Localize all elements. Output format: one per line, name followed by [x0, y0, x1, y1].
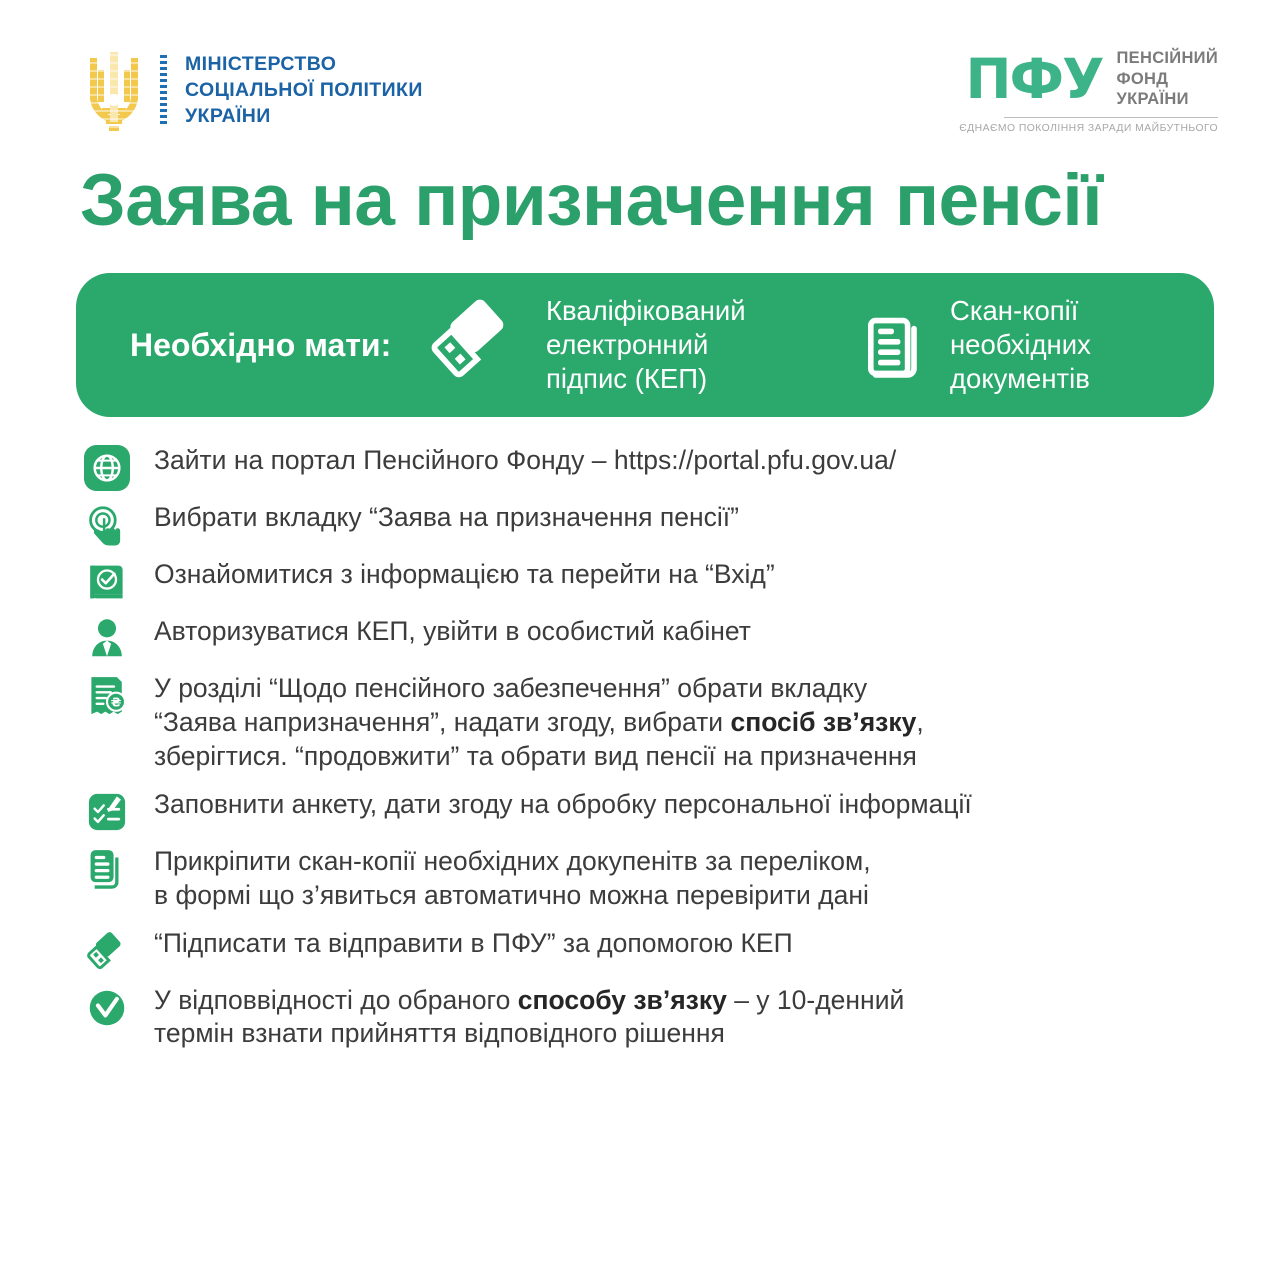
pfu-divider — [1004, 117, 1218, 118]
pfu-logo: ПФУ ПЕНСІЙНИЙ ФОНД УКРАЇНИ ЄДНАЄМО ПОКОЛ… — [959, 48, 1218, 134]
step-text: “Підписати та відправити в ПФУ” за допом… — [136, 926, 1240, 961]
step-text: Ознайомитися з інформацією та перейти на… — [136, 557, 1240, 592]
line-part-bold: способу зв’язку — [518, 985, 727, 1015]
svg-text:₴: ₴ — [111, 696, 122, 710]
step-line: Ознайомитися з інформацією та перейти на… — [154, 558, 1240, 592]
infographic-page: МІНІСТЕРСТВО СОЦІАЛЬНОЇ ПОЛІТИКИ УКРАЇНИ… — [0, 0, 1280, 1280]
step-item: “Підписати та відправити в ПФУ” за допом… — [0, 926, 1280, 974]
check-circle-icon — [78, 983, 136, 1031]
pfu-line-1: ПЕНСІЙНИЙ — [1117, 48, 1218, 69]
step-item: Заповнити анкету, дати згоду на обробку … — [0, 787, 1280, 835]
pfu-name: ПЕНСІЙНИЙ ФОНД УКРАЇНИ — [1117, 48, 1218, 110]
step-line: “Заява напризначення”, надати згоду, виб… — [154, 706, 1240, 740]
step-line: Зайти на портал Пенсійного Фонду – https… — [154, 444, 1240, 478]
documents-stack-icon — [78, 844, 136, 892]
step-line: Вибрати вкладку “Заява на призначення пе… — [154, 501, 1240, 535]
pfu-tagline: ЄДНАЄМО ПОКОЛІННЯ ЗАРАДИ МАЙБУТНЬОГО — [959, 123, 1218, 134]
page-header: МІНІСТЕРСТВО СОЦІАЛЬНОЇ ПОЛІТИКИ УКРАЇНИ… — [0, 0, 1280, 150]
kep-line-3: підпис (КЕП) — [546, 362, 746, 396]
page-title: Заява на призначення пенсії — [0, 150, 1280, 237]
banner-scan-text: Скан-копії необхідних документів — [950, 294, 1091, 396]
line-part: , — [916, 707, 923, 737]
banner-item-kep: Кваліфікований електронний підпис (КЕП) — [430, 294, 850, 396]
step-text: Вибрати вкладку “Заява на призначення пе… — [136, 500, 1240, 535]
scan-line-2: необхідних — [950, 328, 1091, 362]
step-item: Авторизуватися КЕП, увійти в особистий к… — [0, 614, 1280, 662]
step-line: У розділі “Щодо пенсійного забезпечення”… — [154, 672, 1240, 706]
pfu-mark: ПФУ — [966, 54, 1103, 105]
step-item: Прикріпити скан-копії необхідних докупен… — [0, 844, 1280, 913]
step-item: Зайти на портал Пенсійного Фонду – https… — [0, 443, 1280, 491]
step-text: Прикріпити скан-копії необхідних докупен… — [136, 844, 1240, 913]
scan-line-1: Скан-копії — [950, 294, 1091, 328]
book-check-icon — [78, 557, 136, 605]
logo-divider — [160, 55, 167, 127]
usb-token-icon — [78, 926, 136, 974]
scan-line-3: документів — [950, 362, 1091, 396]
kep-line-2: електронний — [546, 328, 746, 362]
ministry-line-3: УКРАЇНИ — [185, 104, 423, 130]
banner-item-scan: Скан-копії необхідних документів — [850, 294, 1220, 396]
ministry-logo: МІНІСТЕРСТВО СОЦІАЛЬНОЇ ПОЛІТИКИ УКРАЇНИ — [82, 48, 423, 134]
step-line: Заповнити анкету, дати згоду на обробку … — [154, 788, 1240, 822]
ministry-line-2: СОЦІАЛЬНОЇ ПОЛІТИКИ — [185, 78, 423, 104]
pfu-line-2: ФОНД — [1117, 69, 1218, 90]
ministry-name: МІНІСТЕРСТВО СОЦІАЛЬНОЇ ПОЛІТИКИ УКРАЇНИ — [185, 52, 423, 129]
step-line: “Підписати та відправити в ПФУ” за допом… — [154, 927, 1240, 961]
user-person-icon — [78, 614, 136, 662]
kep-line-1: Кваліфікований — [546, 294, 746, 328]
line-part: У розділі “Щодо пенсійного забезпечення”… — [154, 673, 867, 703]
documents-stack-icon — [850, 303, 930, 388]
ministry-line-1: МІНІСТЕРСТВО — [185, 52, 423, 78]
step-line: У відповвідності до обраного способу зв’… — [154, 984, 1240, 1018]
step-line: термін взнати прийняття відповідного ріш… — [154, 1017, 1240, 1051]
usb-token-icon — [430, 295, 526, 396]
step-item: ₴ У розділі “Щодо пенсійного забезпеченн… — [0, 671, 1280, 774]
banner-kep-text: Кваліфікований електронний підпис (КЕП) — [546, 294, 746, 396]
banner-label: Необхідно мати: — [130, 325, 430, 365]
step-text: Зайти на портал Пенсійного Фонду – https… — [136, 443, 1240, 478]
step-line: в формі що з’явиться автоматично можна п… — [154, 879, 1240, 913]
receipt-hryvnia-icon: ₴ — [78, 671, 136, 719]
step-text: У відповвідності до обраного способу зв’… — [136, 983, 1240, 1052]
line-part: У відповвідності до обраного — [154, 985, 518, 1015]
requirements-banner: Необхідно мати: Кваліфікований електронн… — [76, 273, 1214, 417]
step-text: Заповнити анкету, дати згоду на обробку … — [136, 787, 1240, 822]
globe-icon — [78, 443, 136, 491]
checklist-pen-icon — [78, 787, 136, 835]
click-hand-icon — [78, 500, 136, 548]
step-text: У розділі “Щодо пенсійного забезпечення”… — [136, 671, 1240, 774]
step-line: зберігтися. “продовжити” та обрати вид п… — [154, 740, 1240, 774]
line-part: – у 10-денний — [727, 985, 904, 1015]
step-line: Авторизуватися КЕП, увійти в особистий к… — [154, 615, 1240, 649]
ukraine-trident-icon — [82, 48, 146, 134]
line-part: зберігтися. “продовжити” та обрати вид п… — [154, 741, 917, 771]
line-part-bold: спосіб зв’язку — [730, 707, 916, 737]
step-text: Авторизуватися КЕП, увійти в особистий к… — [136, 614, 1240, 649]
step-line: Прикріпити скан-копії необхідних докупен… — [154, 845, 1240, 879]
pfu-line-3: УКРАЇНИ — [1117, 89, 1218, 110]
step-item: У відповвідності до обраного способу зв’… — [0, 983, 1280, 1052]
steps-list: Зайти на портал Пенсійного Фонду – https… — [0, 417, 1280, 1051]
line-part: “Заява напризначення”, надати згоду, виб… — [154, 707, 730, 737]
step-item: Ознайомитися з інформацією та перейти на… — [0, 557, 1280, 605]
step-item: Вибрати вкладку “Заява на призначення пе… — [0, 500, 1280, 548]
